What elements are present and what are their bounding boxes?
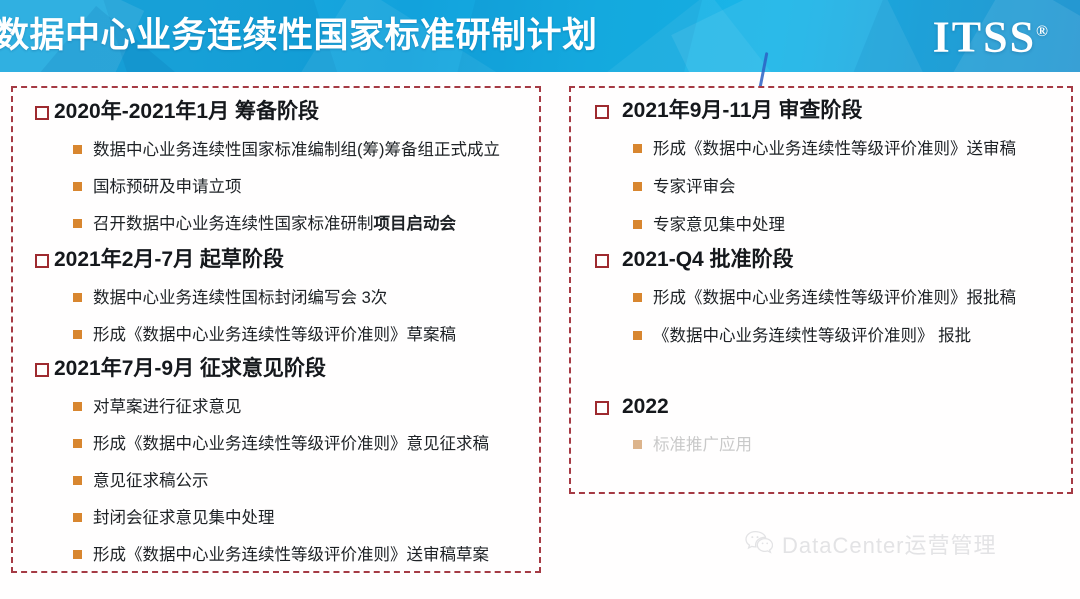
slide-header: 数据中心业务连续性国家标准研制计划 ITSS® [0,0,1080,72]
square-bullet-icon [73,330,82,339]
phase-block: 2020年-2021年1月 筹备阶段 数据中心业务连续性国家标准编制组(筹)筹备… [13,99,500,250]
phase-bullet-list: 标准推广应用 [633,434,752,456]
list-item: 国标预研及申请立项 [73,176,500,198]
bullet-text: 形成《数据中心业务连续性等级评价准则》报批稿 [653,287,1016,309]
registered-trademark-icon: ® [1036,23,1048,40]
wechat-icon [745,530,773,560]
bullet-text: 对草案进行征求意见 [93,396,242,418]
phase-title: 2022 [622,394,669,420]
bullet-text: 意见征求稿公示 [93,470,209,492]
square-bullet-icon [633,440,642,449]
bullet-text: 专家评审会 [653,176,736,198]
list-item: 数据中心业务连续性国家标准编制组(筹)筹备组正式成立 [73,139,500,161]
phase-heading: 2021年2月-7月 起草阶段 [35,247,456,273]
bullet-text: 《数据中心业务连续性等级评价准则》 报批 [653,325,971,347]
list-item: 专家意见集中处理 [633,214,1016,236]
phase-block: 2021年7月-9月 征求意见阶段 对草案进行征求意见 形成《数据中心业务连续性… [13,356,489,581]
phase-title: 2021年9月-11月 审查阶段 [622,98,862,124]
list-item: 形成《数据中心业务连续性等级评价准则》意见征求稿 [73,433,489,455]
phase-block: 2021-Q4 批准阶段 形成《数据中心业务连续性等级评价准则》报批稿 《数据中… [571,247,1016,363]
square-bullet-icon [73,513,82,522]
phase-heading: 2021-Q4 批准阶段 [595,247,1016,273]
phase-heading: 2022 [595,394,752,420]
phase-title: 2020年-2021年1月 筹备阶段 [54,99,319,125]
page-title: 数据中心业务连续性国家标准研制计划 [0,10,598,62]
phase-block: 2022 标准推广应用 [571,394,752,472]
bullet-text: 形成《数据中心业务连续性等级评价准则》意见征求稿 [93,433,489,455]
bullet-text: 召开数据中心业务连续性国家标准研制 [93,213,374,235]
list-item: 形成《数据中心业务连续性等级评价准则》送审稿 [633,138,1016,160]
square-bullet-icon [633,331,642,340]
square-bullet-icon [633,293,642,302]
bullet-text: 形成《数据中心业务连续性等级评价准则》草案稿 [93,324,456,346]
square-bullet-icon [73,145,82,154]
phase-bullet-list: 形成《数据中心业务连续性等级评价准则》报批稿 《数据中心业务连续性等级评价准则》… [633,287,1016,347]
phase-heading: 2020年-2021年1月 筹备阶段 [35,99,500,125]
square-bullet-icon [73,439,82,448]
list-item: 形成《数据中心业务连续性等级评价准则》报批稿 [633,287,1016,309]
square-bullet-icon [73,476,82,485]
bullet-text: 数据中心业务连续性国家标准编制组(筹)筹备组正式成立 [93,139,500,161]
phase-title: 2021-Q4 批准阶段 [622,247,794,273]
square-outline-icon [595,105,609,119]
watermark-text: DataCenter运营管理 [782,528,997,560]
square-outline-icon [35,363,49,377]
phase-bullet-list: 对草案进行征求意见 形成《数据中心业务连续性等级评价准则》意见征求稿 意见征求稿… [73,396,489,566]
phase-block: 2021年9月-11月 审查阶段 形成《数据中心业务连续性等级评价准则》送审稿 … [571,98,1016,252]
phase-bullet-list: 数据中心业务连续性国标封闭编写会 3次 形成《数据中心业务连续性等级评价准则》草… [73,287,456,346]
square-bullet-icon [73,219,82,228]
itss-logo: ITSS® [933,4,1048,66]
square-bullet-icon [73,293,82,302]
timeline-panel-left: 2020年-2021年1月 筹备阶段 数据中心业务连续性国家标准编制组(筹)筹备… [11,86,541,573]
square-bullet-icon [633,182,642,191]
list-item: 标准推广应用 [633,434,752,456]
header-facet-decoration [671,0,939,72]
square-bullet-icon [73,182,82,191]
bullet-text: 数据中心业务连续性国标封闭编写会 3次 [93,287,387,309]
bullet-text: 专家意见集中处理 [653,214,785,236]
bullet-text: 形成《数据中心业务连续性等级评价准则》送审稿 [653,138,1016,160]
phase-heading: 2021年9月-11月 审查阶段 [595,98,1016,124]
bullet-text: 形成《数据中心业务连续性等级评价准则》送审稿草案 [93,544,489,566]
list-item: 召开数据中心业务连续性国家标准研制项目启动会 [73,213,500,235]
square-bullet-icon [73,550,82,559]
bullet-text: 国标预研及申请立项 [93,176,242,198]
list-item: 意见征求稿公示 [73,470,489,492]
square-bullet-icon [633,220,642,229]
phase-block: 2021年2月-7月 起草阶段 数据中心业务连续性国标封闭编写会 3次 形成《数… [13,247,456,361]
phase-title: 2021年2月-7月 起草阶段 [54,247,284,273]
list-item: 封闭会征求意见集中处理 [73,507,489,529]
itss-logo-text: ITSS [933,13,1036,62]
list-item: 数据中心业务连续性国标封闭编写会 3次 [73,287,456,309]
phase-bullet-list: 形成《数据中心业务连续性等级评价准则》送审稿 专家评审会 专家意见集中处理 [633,138,1016,236]
header-facet-decoration [575,0,795,72]
phase-bullet-list: 数据中心业务连续性国家标准编制组(筹)筹备组正式成立 国标预研及申请立项 召开数… [73,139,500,235]
square-bullet-icon [73,402,82,411]
list-item: 《数据中心业务连续性等级评价准则》 报批 [633,325,1016,347]
list-item: 专家评审会 [633,176,1016,198]
square-outline-icon [35,106,49,120]
list-item: 对草案进行征求意见 [73,396,489,418]
bullet-text: 封闭会征求意见集中处理 [93,507,275,529]
list-item: 形成《数据中心业务连续性等级评价准则》送审稿草案 [73,544,489,566]
square-bullet-icon [633,144,642,153]
bullet-text: 标准推广应用 [653,434,752,456]
square-outline-icon [595,254,609,268]
phase-heading: 2021年7月-9月 征求意见阶段 [35,356,489,382]
wechat-watermark: DataCenter运营管理 [745,528,997,560]
square-outline-icon [595,401,609,415]
square-outline-icon [35,254,49,268]
bullet-text-emphasis: 项目启动会 [374,213,457,235]
timeline-panel-right: 2021年9月-11月 审查阶段 形成《数据中心业务连续性等级评价准则》送审稿 … [569,86,1073,494]
list-item: 形成《数据中心业务连续性等级评价准则》草案稿 [73,324,456,346]
phase-title: 2021年7月-9月 征求意见阶段 [54,356,326,382]
